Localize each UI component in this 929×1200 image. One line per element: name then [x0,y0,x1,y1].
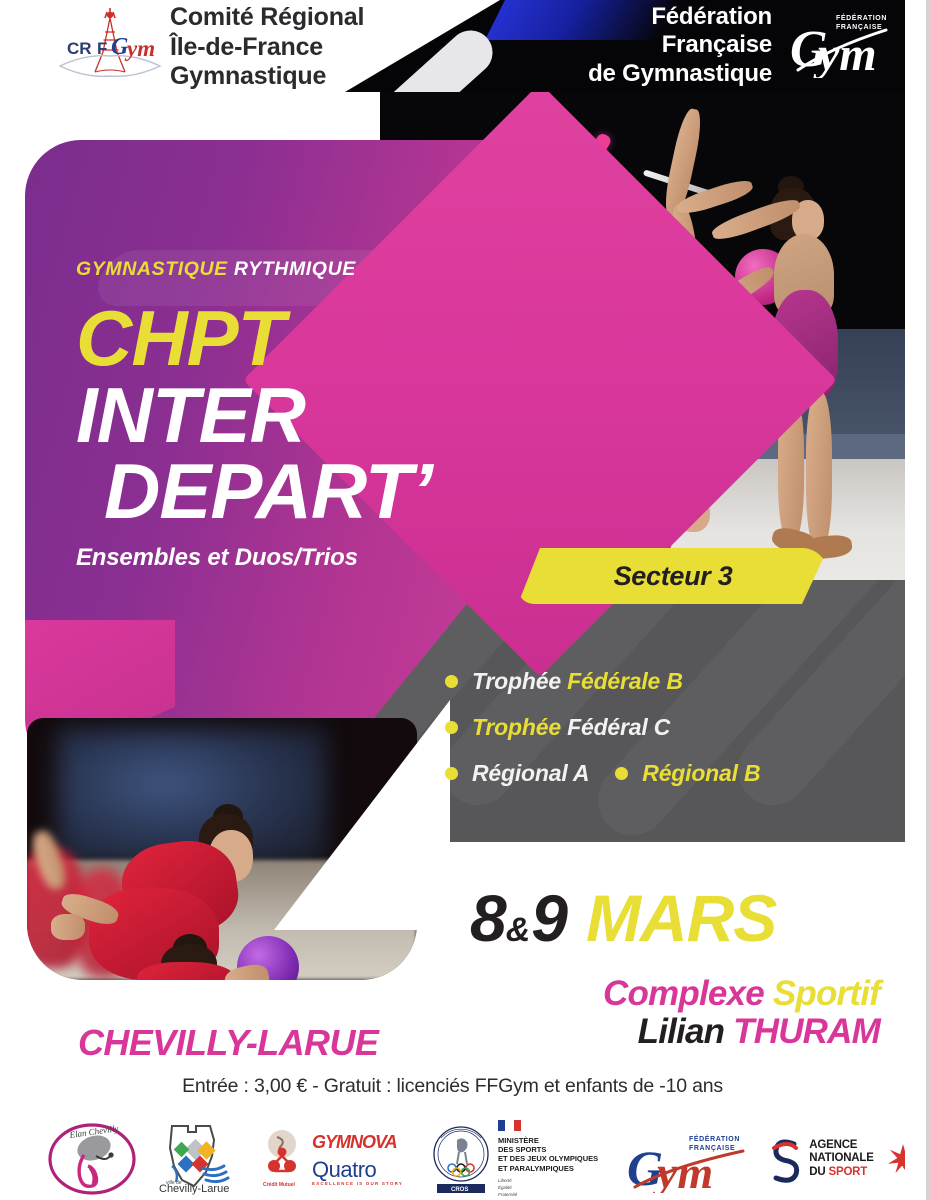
svg-text:ym: ym [124,36,155,61]
title-subtitle: Ensembles et Duos/Trios [76,544,506,572]
duo-main-hand [51,914,85,940]
crif-gym-logo: CR F G ym [55,6,165,84]
svg-text:FÉDÉRATION: FÉDÉRATION [689,1134,740,1143]
category-row-2: Trophée Fédéral C [445,714,760,741]
category-list: Trophée Fédérale B Trophée Fédéral C Rég… [445,668,760,806]
ans-line1: AGENCE [809,1139,873,1152]
ffgym-logo: FÉDÉRATION FRANÇAISE G ym [790,4,895,78]
category-text-2: Trophée Fédéral C [472,714,670,741]
event-date: 8 & 9 MARS [470,880,776,956]
venue-city: CHEVILLY-LARUE [78,1022,378,1064]
gymnova-quatro-logo: GYMNOVA Quatro EXCELLENCE IS OUR STORY [312,1132,424,1186]
credit-mutuel-logo: Crédit Mutuel [252,1128,312,1190]
date-month: MARS [586,880,776,956]
ministere-des-sports-logo: MINISTÈRE DES SPORTS ET DES JEUX OLYMPIQ… [498,1120,622,1199]
ffgym-header-title: Fédération Française de Gymnastique [527,3,772,88]
ministere-motto: Liberté Égalité Fraternité [498,1178,517,1198]
svg-text:FÉDÉRATION: FÉDÉRATION [836,13,887,22]
crif-title-line2: Île-de-France [170,33,364,63]
venue-line2: Lilian THURAM [460,1013,880,1051]
venue-thuram: THURAM [733,1012,880,1051]
quatro-label: Quatro [312,1159,376,1181]
category-1-part1: Trophée [472,668,561,694]
category-2-part2: Fédéral C [567,714,670,740]
gymnova-logo: GYMNOVA [312,1132,397,1153]
crif-title-line3: Gymnastique [170,62,364,92]
svg-text:CR: CR [67,39,92,58]
ministere-line2: DES SPORTS [498,1145,598,1154]
svg-text:Chevilly-Larue: Chevilly-Larue [159,1183,229,1195]
bullet-dot-icon [615,767,628,780]
category-3-right: Régional B [642,760,760,787]
ministere-line3: ET DES JEUX OLYMPIQUES [498,1154,598,1163]
category-1-part2: Fédérale B [567,668,683,694]
category-row-3: Régional A Régional B [445,760,760,787]
venue-sportif: Sportif [773,974,880,1013]
ministere-motto-2: Égalité [498,1185,517,1192]
date-day2: 9 [531,880,566,956]
ans-line3: DU SPORT [809,1166,873,1179]
cros-idf-logo: CROS [424,1122,498,1196]
ministere-motto-3: Fraternité [498,1192,517,1199]
title-kicker: GYMNASTIQUE RYTHMIQUE [76,258,506,281]
ministere-line1: MINISTÈRE [498,1136,598,1145]
ffgym-footer-logo: FÉDÉRATION FRANÇAISE G ym [622,1125,758,1193]
date-day1: 8 [470,880,505,956]
date-ampersand: & [506,911,531,950]
ffgym-title-line2: Française [527,31,772,59]
ffgym-title-line1: Fédération [527,3,772,31]
poster-header: CR F G ym Comité Régional Île-de-France … [0,0,905,92]
french-flag-icon [498,1120,521,1131]
bullet-dot-icon [445,675,458,688]
footer-logo-strip: Elan Chevilly ville de Chevilly-Larue [40,1118,920,1200]
elan-chevilly-logo: Elan Chevilly [40,1122,144,1196]
category-3-left: Régional A [472,760,589,787]
title-line-chpt: CHPT [76,305,506,372]
category-2-part1: Trophée [472,714,561,740]
title-line-inter: INTER [76,380,506,450]
secteur-badge: Secteur 3 [518,548,828,604]
venue-lilian: Lilian [638,1012,725,1051]
entry-fee-text: Entrée : 3,00 € - Gratuit : licenciés FF… [0,1075,905,1098]
ministere-lines: MINISTÈRE DES SPORTS ET DES JEUX OLYMPIQ… [498,1136,598,1174]
title-kicker-part1: GYMNASTIQUE [76,258,228,280]
main-title-block: GYMNASTIQUE RYTHMIQUE CHPT INTER DEPART’… [76,258,506,572]
title-line-depart: DEPART’ [104,456,506,526]
ville-chevilly-larue-logo: ville de Chevilly-Larue [144,1122,252,1196]
agence-nationale-du-sport-logo: AGENCE NATIONALE DU SPORT [758,1134,884,1184]
bullet-dot-icon [445,767,458,780]
crif-title-line1: Comité Régional [170,3,364,33]
category-text-1: Trophée Fédérale B [472,668,683,695]
quatro-logo: Quatro EXCELLENCE IS OUR STORY [312,1159,403,1186]
ans-text: AGENCE NATIONALE DU SPORT [809,1139,873,1179]
venue-complexe: Complexe [603,974,764,1013]
crif-header-title: Comité Régional Île-de-France Gymnastiqu… [170,3,364,92]
ans-line2: NATIONALE [809,1152,873,1165]
svg-text:F: F [97,39,107,58]
secteur-label: Secteur 3 [614,561,733,592]
svg-text:ym: ym [652,1147,713,1193]
ministere-motto-1: Liberté [498,1178,517,1185]
poster-root: GYMNASTIQUE RYTHMIQUE CHPT INTER DEPART’… [0,0,929,1200]
ans-line3-du: DU [809,1166,828,1178]
svg-text:Crédit Mutuel: Crédit Mutuel [263,1182,296,1188]
venue-line1: Complexe Sportif [460,975,880,1013]
category-row-1: Trophée Fédérale B [445,668,760,695]
title-kicker-part2: RYTHMIQUE [234,258,356,280]
bullet-dot-icon [445,721,458,734]
ffgym-title-line3: de Gymnastique [527,60,772,88]
cros-label: CROS [451,1187,468,1193]
ans-line3-sport: SPORT [829,1166,868,1178]
quatro-tagline: EXCELLENCE IS OUR STORY [312,1181,403,1186]
ministere-line4: ET PARALYMPIQUES [498,1164,598,1173]
venue-block: Complexe Sportif Lilian THURAM [460,975,880,1051]
